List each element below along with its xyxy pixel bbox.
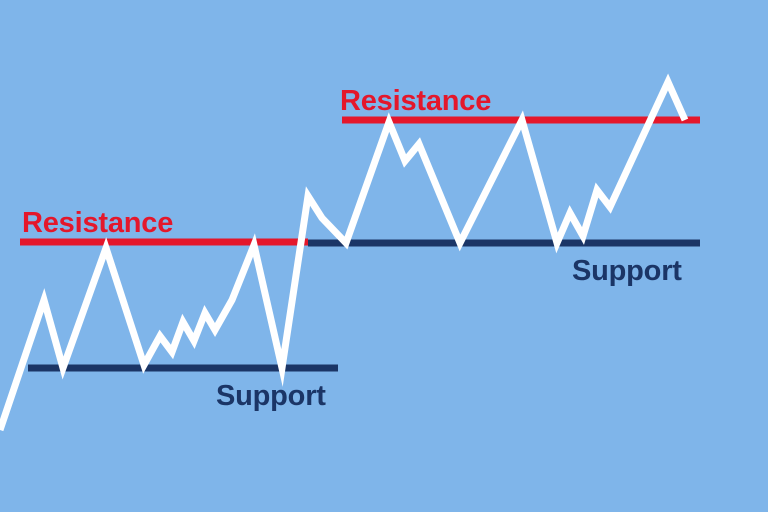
support-resistance-chart: ResistanceSupportResistanceSupport — [0, 0, 768, 512]
chart-canvas: ResistanceSupportResistanceSupport — [0, 0, 768, 512]
support-label: Support — [572, 255, 682, 287]
resistance-label: Resistance — [22, 207, 173, 239]
support-label: Support — [216, 380, 326, 412]
resistance-label: Resistance — [340, 85, 491, 117]
